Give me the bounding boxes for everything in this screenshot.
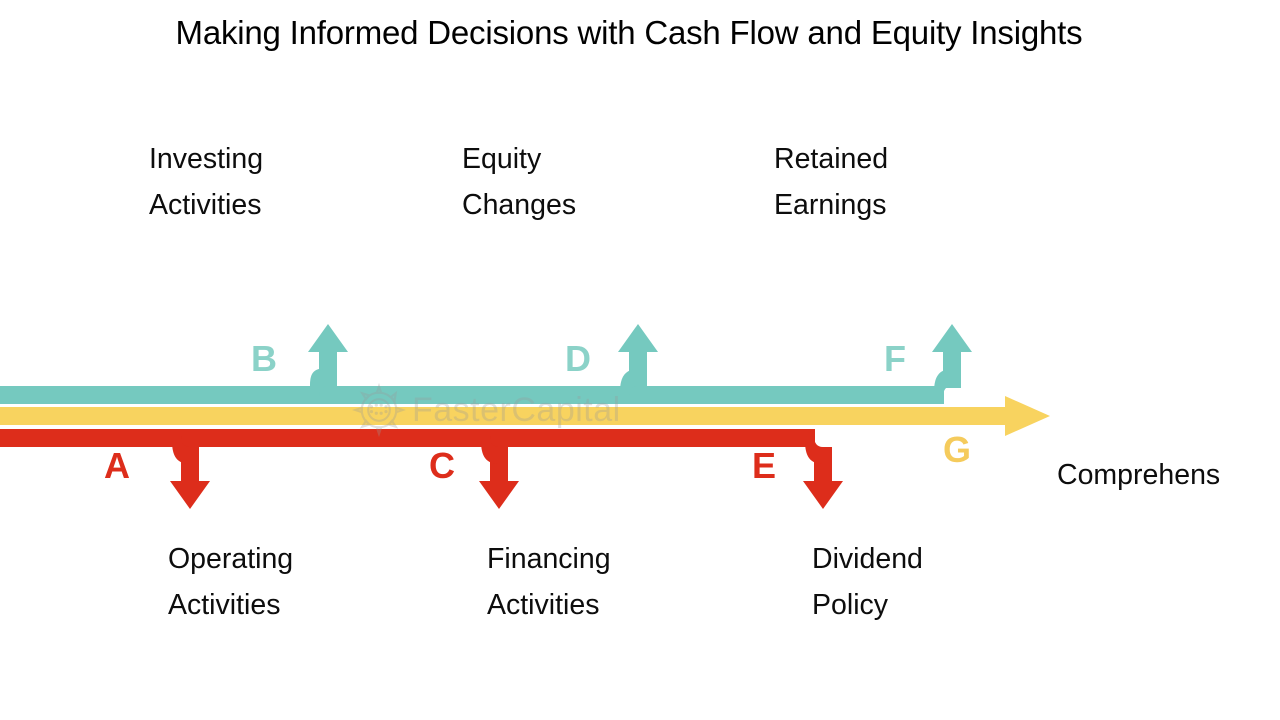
node-label-line1: Equity xyxy=(462,143,541,175)
teal-lane xyxy=(0,324,972,404)
yellow-arrowhead xyxy=(1005,396,1050,436)
node-equity-changes: Equity Changes xyxy=(462,136,576,228)
node-retained-earnings: Retained Earnings xyxy=(774,136,888,228)
trailing-caption: Comprehens xyxy=(1057,458,1220,492)
node-label-line1: Dividend xyxy=(812,543,923,575)
node-label-line1: Investing xyxy=(149,143,263,175)
branch-letter-e: E xyxy=(752,448,776,484)
branch-letter-c: C xyxy=(429,448,455,484)
node-operating-activities: Operating Activities xyxy=(168,536,293,628)
node-label-line2: Activities xyxy=(487,582,611,628)
node-dividend-policy: Dividend Policy xyxy=(812,536,923,628)
branch-letter-a: A xyxy=(104,448,130,484)
node-financing-activities: Financing Activities xyxy=(487,536,611,628)
node-label-line2: Changes xyxy=(462,182,576,228)
branch-letter-b: B xyxy=(251,341,277,377)
node-label-line1: Operating xyxy=(168,543,293,575)
node-label-line2: Earnings xyxy=(774,182,888,228)
branch-letter-g: G xyxy=(943,432,971,468)
node-label-line1: Financing xyxy=(487,543,611,575)
branch-letter-f: F xyxy=(884,341,906,377)
node-label-line1: Retained xyxy=(774,143,888,175)
node-label-line2: Activities xyxy=(168,582,293,628)
node-label-line2: Activities xyxy=(149,182,263,228)
node-label-line2: Policy xyxy=(812,582,923,628)
branch-letter-d: D xyxy=(565,341,591,377)
diagram-canvas: Making Informed Decisions with Cash Flow… xyxy=(0,0,1280,720)
node-investing-activities: Investing Activities xyxy=(149,136,263,228)
